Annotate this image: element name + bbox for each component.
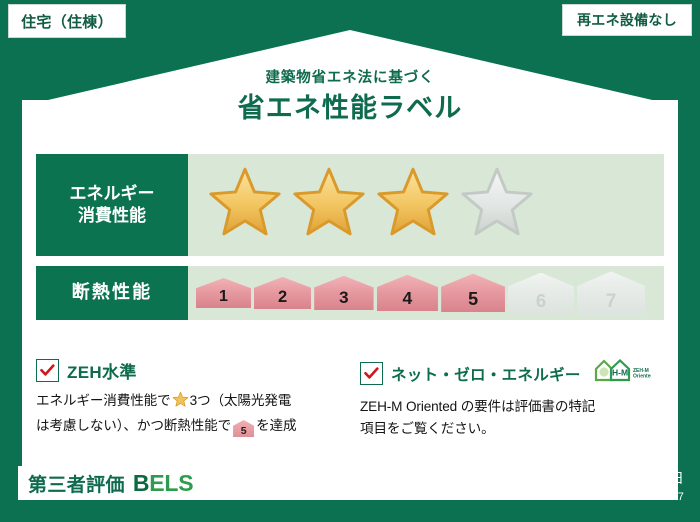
- checkmark-icon: [36, 359, 59, 382]
- house-badge-icon-1: 1: [196, 278, 251, 308]
- house-badge-icon-4: 4: [377, 275, 439, 312]
- insulation-level-value: 5: [468, 289, 478, 312]
- energy-label-line2: 消費性能: [78, 205, 146, 227]
- third-party-evaluation-label: 第三者評価: [28, 470, 125, 497]
- insulation-level-value: 6: [536, 290, 546, 314]
- star-icon-empty: [458, 164, 536, 247]
- evaluation-meta: 評価日 2025年8月6日 a63c86d5-257c-4b17: [548, 468, 684, 503]
- energy-performance-row-label: エネルギー 消費性能: [36, 154, 188, 256]
- house-badge-icon: 5: [233, 420, 254, 437]
- star-icon-filled: [290, 164, 368, 247]
- building-type-tag-label: 住宅（住棟）: [21, 11, 113, 32]
- star-rating: [188, 154, 664, 256]
- energy-performance-row: エネルギー 消費性能: [36, 154, 664, 256]
- energy-performance-label: 住宅（住棟） 再エネ設備なし 建築物省エネ法に基づく 省エネ性能ラベル ハウスド…: [0, 0, 700, 522]
- insulation-level-value: 4: [403, 288, 413, 311]
- label-subtitle: 建築物省エネ法に基づく: [0, 66, 700, 87]
- net-zero-energy-section: ネット・ゼロ・エネルギー H-M ZEH-M Oriented ZEH-M Or…: [360, 358, 666, 440]
- insulation-level-value: 2: [278, 288, 287, 309]
- zeh-desc-post: を達成: [256, 418, 296, 433]
- house-badge-icon-3: 3: [314, 276, 373, 310]
- company-name: NUEVA VIDA: [243, 474, 341, 494]
- zeh-desc-pre: エネルギー消費性能で: [36, 393, 171, 408]
- zeh-standard-heading: ZEH水準: [36, 358, 336, 383]
- insulation-performance-row: 断熱性能 1234567: [36, 266, 664, 320]
- bels-logo-els: ELS: [149, 470, 193, 496]
- net-zero-energy-title: ネット・ゼロ・エネルギー: [391, 363, 581, 385]
- insulation-level-value: 3: [339, 288, 348, 310]
- house-badge-icon-5: 5: [441, 274, 505, 313]
- zeh-standard-section: ZEH水準 エネルギー消費性能で3つ（太陽光発電 は考慮しない）、かつ断熱性能で…: [36, 358, 336, 437]
- net-zero-energy-description: ZEH-M Oriented の要件は評価書の特記 項目をご覧ください。: [360, 396, 666, 440]
- star-icon-filled: [374, 164, 452, 247]
- house-badge-icon-7: 7: [577, 271, 645, 314]
- insulation-label: 断熱性能: [72, 281, 153, 304]
- star-icon-filled: [206, 164, 284, 247]
- zeh-standard-description: エネルギー消費性能で3つ（太陽光発電 は考慮しない）、かつ断熱性能で5を達成: [36, 390, 336, 437]
- evaluation-date: 評価日 2025年8月6日: [548, 468, 684, 488]
- zeh-m-oriented-logo: H-M ZEH-M Oriented: [593, 358, 651, 389]
- insulation-level-value: 1: [219, 288, 228, 308]
- net-zero-desc-line2: 項目をご覧ください。: [360, 421, 495, 436]
- house-badge-icon-2: 2: [254, 277, 311, 309]
- bels-logo: BELS: [133, 470, 193, 497]
- bels-certification-mark: 第三者評価 BELS: [18, 466, 203, 500]
- label-title: 省エネ性能ラベル: [0, 86, 700, 125]
- insulation-level-value: 7: [606, 291, 617, 315]
- house-badge-icon-6: 6: [508, 273, 574, 314]
- svg-text:Oriented: Oriented: [633, 374, 651, 380]
- insulation-level-scale: 1234567: [188, 266, 664, 320]
- svg-text:H-M: H-M: [612, 368, 628, 378]
- checkmark-icon: [360, 362, 383, 385]
- zeh-desc-mid: は考慮しない）、かつ断熱性能で: [36, 418, 231, 433]
- zeh-standard-title: ZEH水準: [67, 358, 137, 383]
- energy-label-line1: エネルギー: [70, 183, 155, 205]
- net-zero-energy-heading: ネット・ゼロ・エネルギー H-M ZEH-M Oriented: [360, 358, 666, 389]
- bels-logo-b: B: [133, 470, 149, 496]
- zeh-desc-stars: 3つ（太陽光発電: [190, 393, 292, 408]
- insulation-performance-row-label: 断熱性能: [36, 266, 188, 320]
- building-type-tag: 住宅（住棟）: [8, 4, 126, 38]
- renewable-equipment-tag: 再エネ設備なし: [562, 4, 692, 36]
- renewable-equipment-tag-label: 再エネ設備なし: [577, 10, 677, 30]
- evaluation-id: a63c86d5-257c-4b17: [548, 491, 684, 503]
- star-icon: [172, 396, 189, 411]
- net-zero-desc-line1: ZEH-M Oriented の要件は評価書の特記: [360, 399, 595, 414]
